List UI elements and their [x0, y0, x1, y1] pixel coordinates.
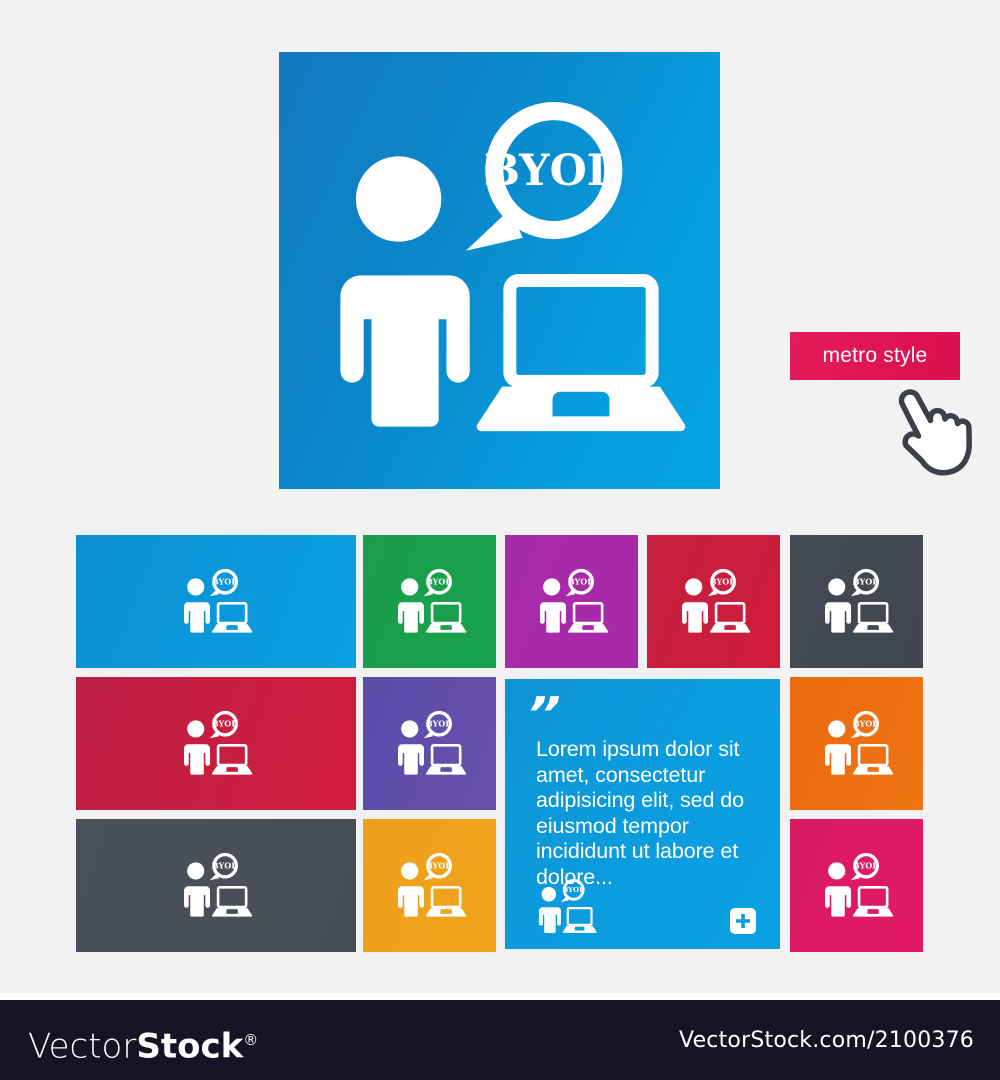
tile-byod-t3[interactable]: [505, 535, 638, 668]
byod-person-laptop-icon: [533, 567, 611, 637]
tile-byod-t11[interactable]: [790, 819, 923, 952]
byod-person-laptop-icon: BYOD: [279, 52, 720, 489]
tile-byod-t5[interactable]: [790, 535, 923, 668]
tile-byod-t10[interactable]: [363, 819, 496, 952]
footer-url: VectorStock.com/2100376: [679, 1028, 974, 1053]
registered-mark: ®: [243, 1031, 258, 1049]
byod-person-laptop-icon: [533, 877, 599, 937]
vectorstock-logo: VectorStock®: [28, 1020, 258, 1066]
hand-pointer-cursor: [884, 384, 978, 484]
brand-part2: Stock: [136, 1026, 243, 1066]
tile-byod-t9[interactable]: [76, 819, 356, 952]
brand-part1: Vector: [28, 1026, 136, 1066]
tile-byod-t1[interactable]: [76, 535, 356, 668]
metro-style-button[interactable]: metro style: [790, 332, 960, 380]
tile-byod-t8[interactable]: [790, 677, 923, 810]
hero-tile-byod[interactable]: BYOD: [279, 52, 720, 489]
byod-person-laptop-icon: [818, 709, 896, 779]
plus-icon[interactable]: [730, 908, 756, 934]
byod-person-laptop-icon: [391, 709, 469, 779]
bubble-label: BYOD: [484, 146, 624, 196]
tile-byod-t4[interactable]: [647, 535, 780, 668]
byod-person-laptop-icon: [391, 851, 469, 921]
metro-style-label: metro style: [823, 344, 928, 368]
tile-byod-t2[interactable]: [363, 535, 496, 668]
quote-text: Lorem ipsum dolor sit amet, consectetur …: [536, 737, 771, 890]
byod-person-laptop-icon: [177, 709, 255, 779]
tile-byod-t6[interactable]: [76, 677, 356, 810]
footer-separator: [0, 993, 1000, 1000]
byod-person-laptop-icon: [818, 567, 896, 637]
byod-person-laptop-icon: [818, 851, 896, 921]
tile-byod-t7[interactable]: [363, 677, 496, 810]
byod-person-laptop-icon: [391, 567, 469, 637]
byod-person-laptop-icon: [177, 567, 255, 637]
quote-mark-icon: ”: [527, 691, 561, 737]
byod-person-laptop-icon: [675, 567, 753, 637]
footer-bar: VectorStock® VectorStock.com/2100376: [0, 1000, 1000, 1080]
byod-person-laptop-icon: [177, 851, 255, 921]
artwork-canvas: BYOD metro style ” Lorem ipsum dolor sit…: [0, 0, 1000, 1000]
